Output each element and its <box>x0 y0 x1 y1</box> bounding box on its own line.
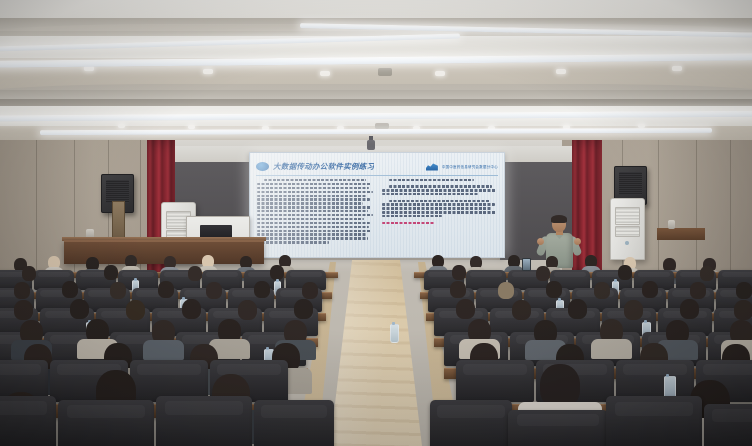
seat <box>430 400 512 446</box>
ac-indicator-light <box>625 241 629 245</box>
downlight <box>118 124 125 128</box>
seat <box>606 396 702 446</box>
ceiling-top-plane <box>0 0 752 20</box>
air-conditioner-right <box>610 198 645 260</box>
seat <box>0 396 56 446</box>
side-table-right <box>657 228 705 240</box>
ac-grill <box>615 207 640 225</box>
lecture-hall-photo: 大数据传动办公软件实例练习 中国中医药信息研究会数据分中心 <box>0 0 752 446</box>
seat <box>58 400 154 446</box>
seat <box>156 396 252 446</box>
ceiling-projector <box>367 140 375 150</box>
projection-screen: 大数据传动办公软件实例练习 中国中医药信息研究会数据分中心 <box>249 152 505 258</box>
presenter-hand-left <box>537 238 544 245</box>
cup <box>668 220 675 229</box>
water-bottle <box>390 324 399 343</box>
floor-reflection <box>330 260 422 446</box>
downlight <box>556 69 566 74</box>
downlight <box>672 66 682 71</box>
ac-grill <box>615 226 640 237</box>
downlight <box>435 71 445 76</box>
seat <box>254 400 334 446</box>
downlight <box>320 71 330 76</box>
seat <box>704 404 752 446</box>
seat <box>456 360 534 402</box>
seat <box>508 410 608 446</box>
center-aisle-floor <box>330 260 422 446</box>
screen-glare <box>250 153 504 257</box>
presenter-hair <box>551 215 567 223</box>
downlight <box>203 69 213 74</box>
ceiling-vent <box>378 68 392 76</box>
phone <box>522 258 531 271</box>
downlight <box>188 125 195 129</box>
presenter <box>536 216 582 268</box>
presenter-hand-right <box>574 238 581 245</box>
wall-cabinet <box>112 201 125 239</box>
